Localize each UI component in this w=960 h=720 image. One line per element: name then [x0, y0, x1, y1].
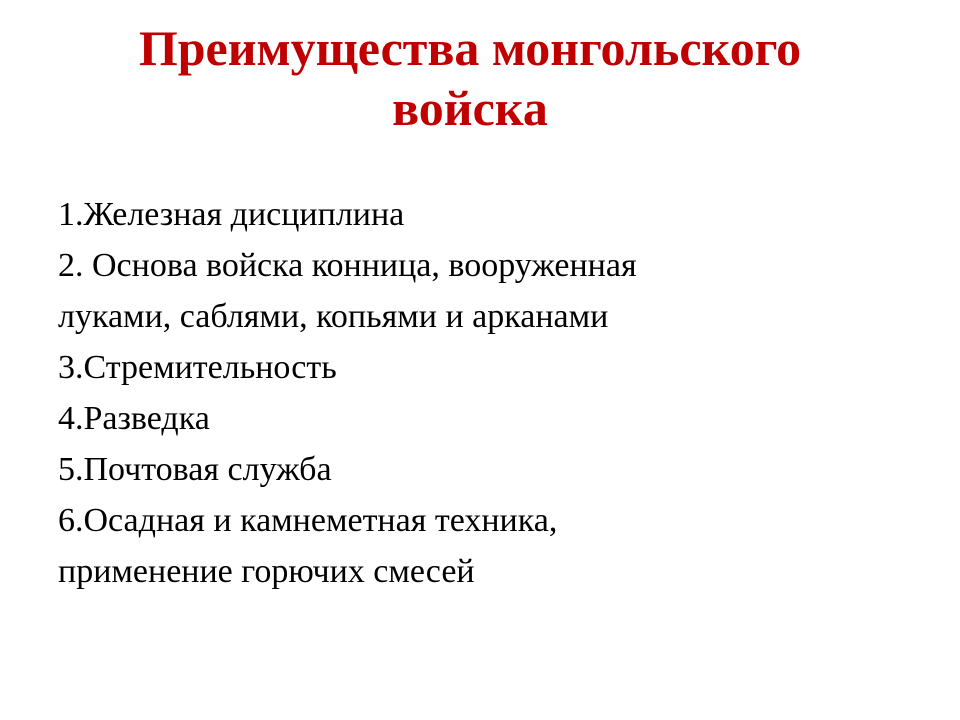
list-item: луками, саблями, копьями и арканами	[58, 291, 858, 342]
list-item: 3.Стремительность	[58, 342, 858, 393]
list-item: 2. Основа войска конница, вооруженная	[58, 240, 858, 291]
list-item: 6.Осадная и камнеметная техника,	[58, 495, 858, 546]
list-item: 4.Разведка	[58, 393, 858, 444]
list-item: 1.Железная дисциплина	[58, 189, 858, 240]
advantages-list: 1.Железная дисциплина 2. Основа войска к…	[58, 189, 858, 597]
list-item: 5.Почтовая служба	[58, 444, 858, 495]
slide-title: Преимущества монгольского войска	[60, 18, 880, 138]
list-item: применение горючих смесей	[58, 546, 858, 597]
presentation-slide: Преимущества монгольского войска 1.Желез…	[0, 0, 960, 720]
